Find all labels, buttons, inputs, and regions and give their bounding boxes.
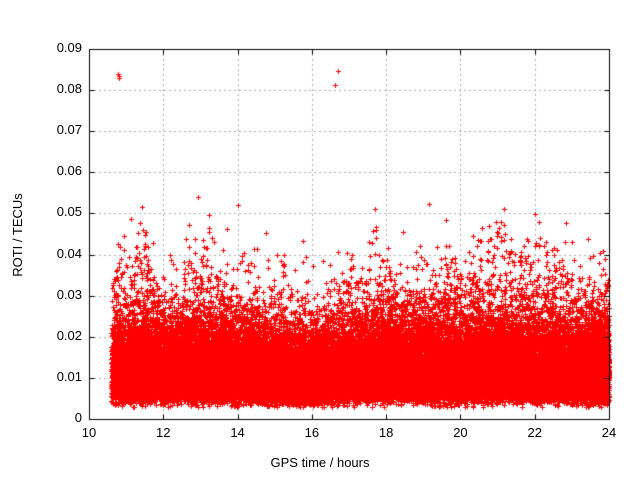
y-axis-label: ROTI / TECUs [10, 125, 25, 345]
x-tick-label: 18 [356, 425, 416, 440]
x-tick-label: 20 [430, 425, 490, 440]
x-tick-label: 24 [579, 425, 639, 440]
x-tick-label: 12 [133, 425, 193, 440]
x-axis-label: GPS time / hours [0, 455, 640, 470]
x-tick-label: 14 [208, 425, 268, 440]
y-axis-label-container: ROTI / TECUs [0, 0, 30, 480]
x-tick-label: 16 [282, 425, 342, 440]
x-tick-label: 22 [505, 425, 565, 440]
x-tick-label: 10 [59, 425, 119, 440]
chart-figure: Day 319 of 2021, Rate Of TEC Index for r… [0, 0, 640, 480]
x-axis-tick-labels: 1012141618202224 [0, 0, 640, 480]
